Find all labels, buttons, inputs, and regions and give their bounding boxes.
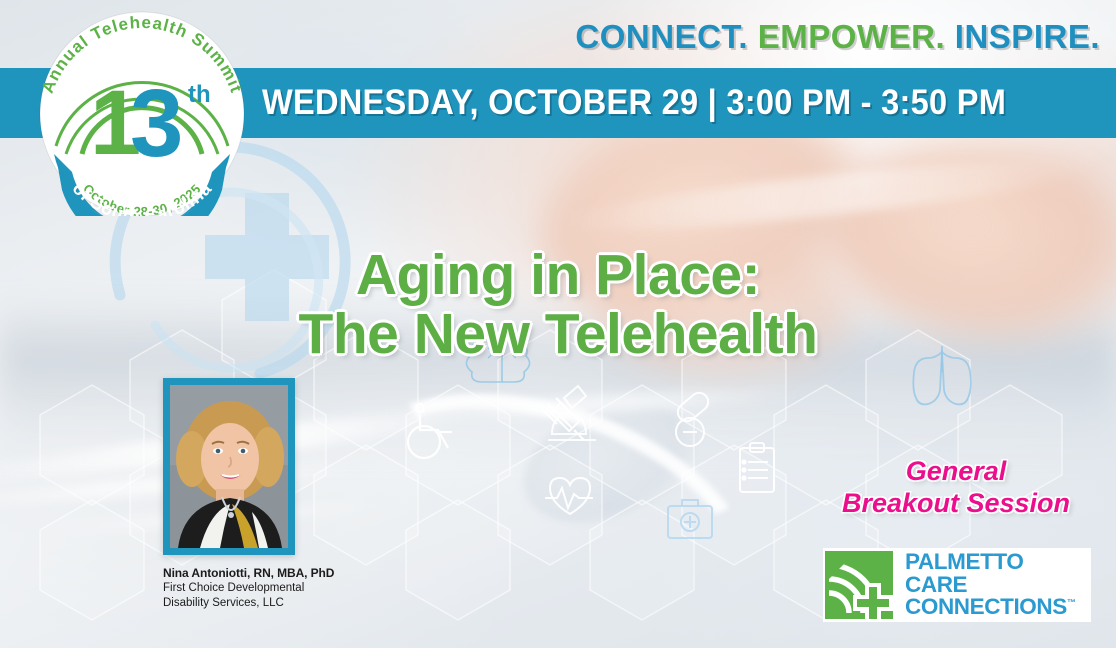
tagline-connect: CONNECT. [575, 18, 748, 55]
palmetto-care-connections-wordmark: PALMETTO CARE CONNECTIONS™ [905, 551, 1076, 619]
avatar [170, 385, 288, 548]
speaker-name: Nina Antoniotti, RN, MBA, PhD [163, 566, 423, 581]
session-title-line-2: The New Telehealth [0, 305, 1116, 364]
session-type-line-1: General [806, 455, 1106, 487]
logo-word-palmetto: PALMETTO [905, 551, 1076, 574]
speaker-org-line-1: First Choice Developmental [163, 581, 423, 596]
badge-number-3: 3 [130, 70, 183, 177]
date-time-text: WEDNESDAY, OCTOBER 29 | 3:00 PM - 3:50 P… [262, 83, 1006, 123]
tagline: CONNECT. EMPOWER. INSPIRE. [575, 18, 1100, 56]
tagline-empower: EMPOWER. [758, 18, 945, 55]
speaker-info: Nina Antoniotti, RN, MBA, PhD First Choi… [163, 566, 423, 611]
session-title: Aging in Place: The New Telehealth [0, 246, 1116, 363]
event-session-graphic: WEDNESDAY, OCTOBER 29 | 3:00 PM - 3:50 P… [0, 0, 1116, 648]
session-type-line-2: Breakout Session [806, 487, 1106, 519]
trademark-symbol: ™ [1067, 598, 1076, 608]
tagline-inspire: INSPIRE. [955, 18, 1100, 55]
palmetto-care-connections-logo: PALMETTO CARE CONNECTIONS™ [823, 548, 1091, 622]
palmetto-care-connections-mark [823, 549, 895, 621]
logo-word-care: CARE [905, 574, 1076, 597]
speaker-photo-frame [163, 378, 295, 555]
logo-word-connections: CONNECTIONS [905, 594, 1067, 619]
session-title-line-1: Aging in Place: [0, 246, 1116, 305]
badge-ordinal: th [188, 81, 211, 108]
telehealth-summit-badge: 1 3 th Annual Telehealth Summit October … [26, 4, 258, 216]
speaker-org-line-2: Disability Services, LLC [163, 596, 423, 611]
session-type-label: General Breakout Session [806, 455, 1106, 520]
